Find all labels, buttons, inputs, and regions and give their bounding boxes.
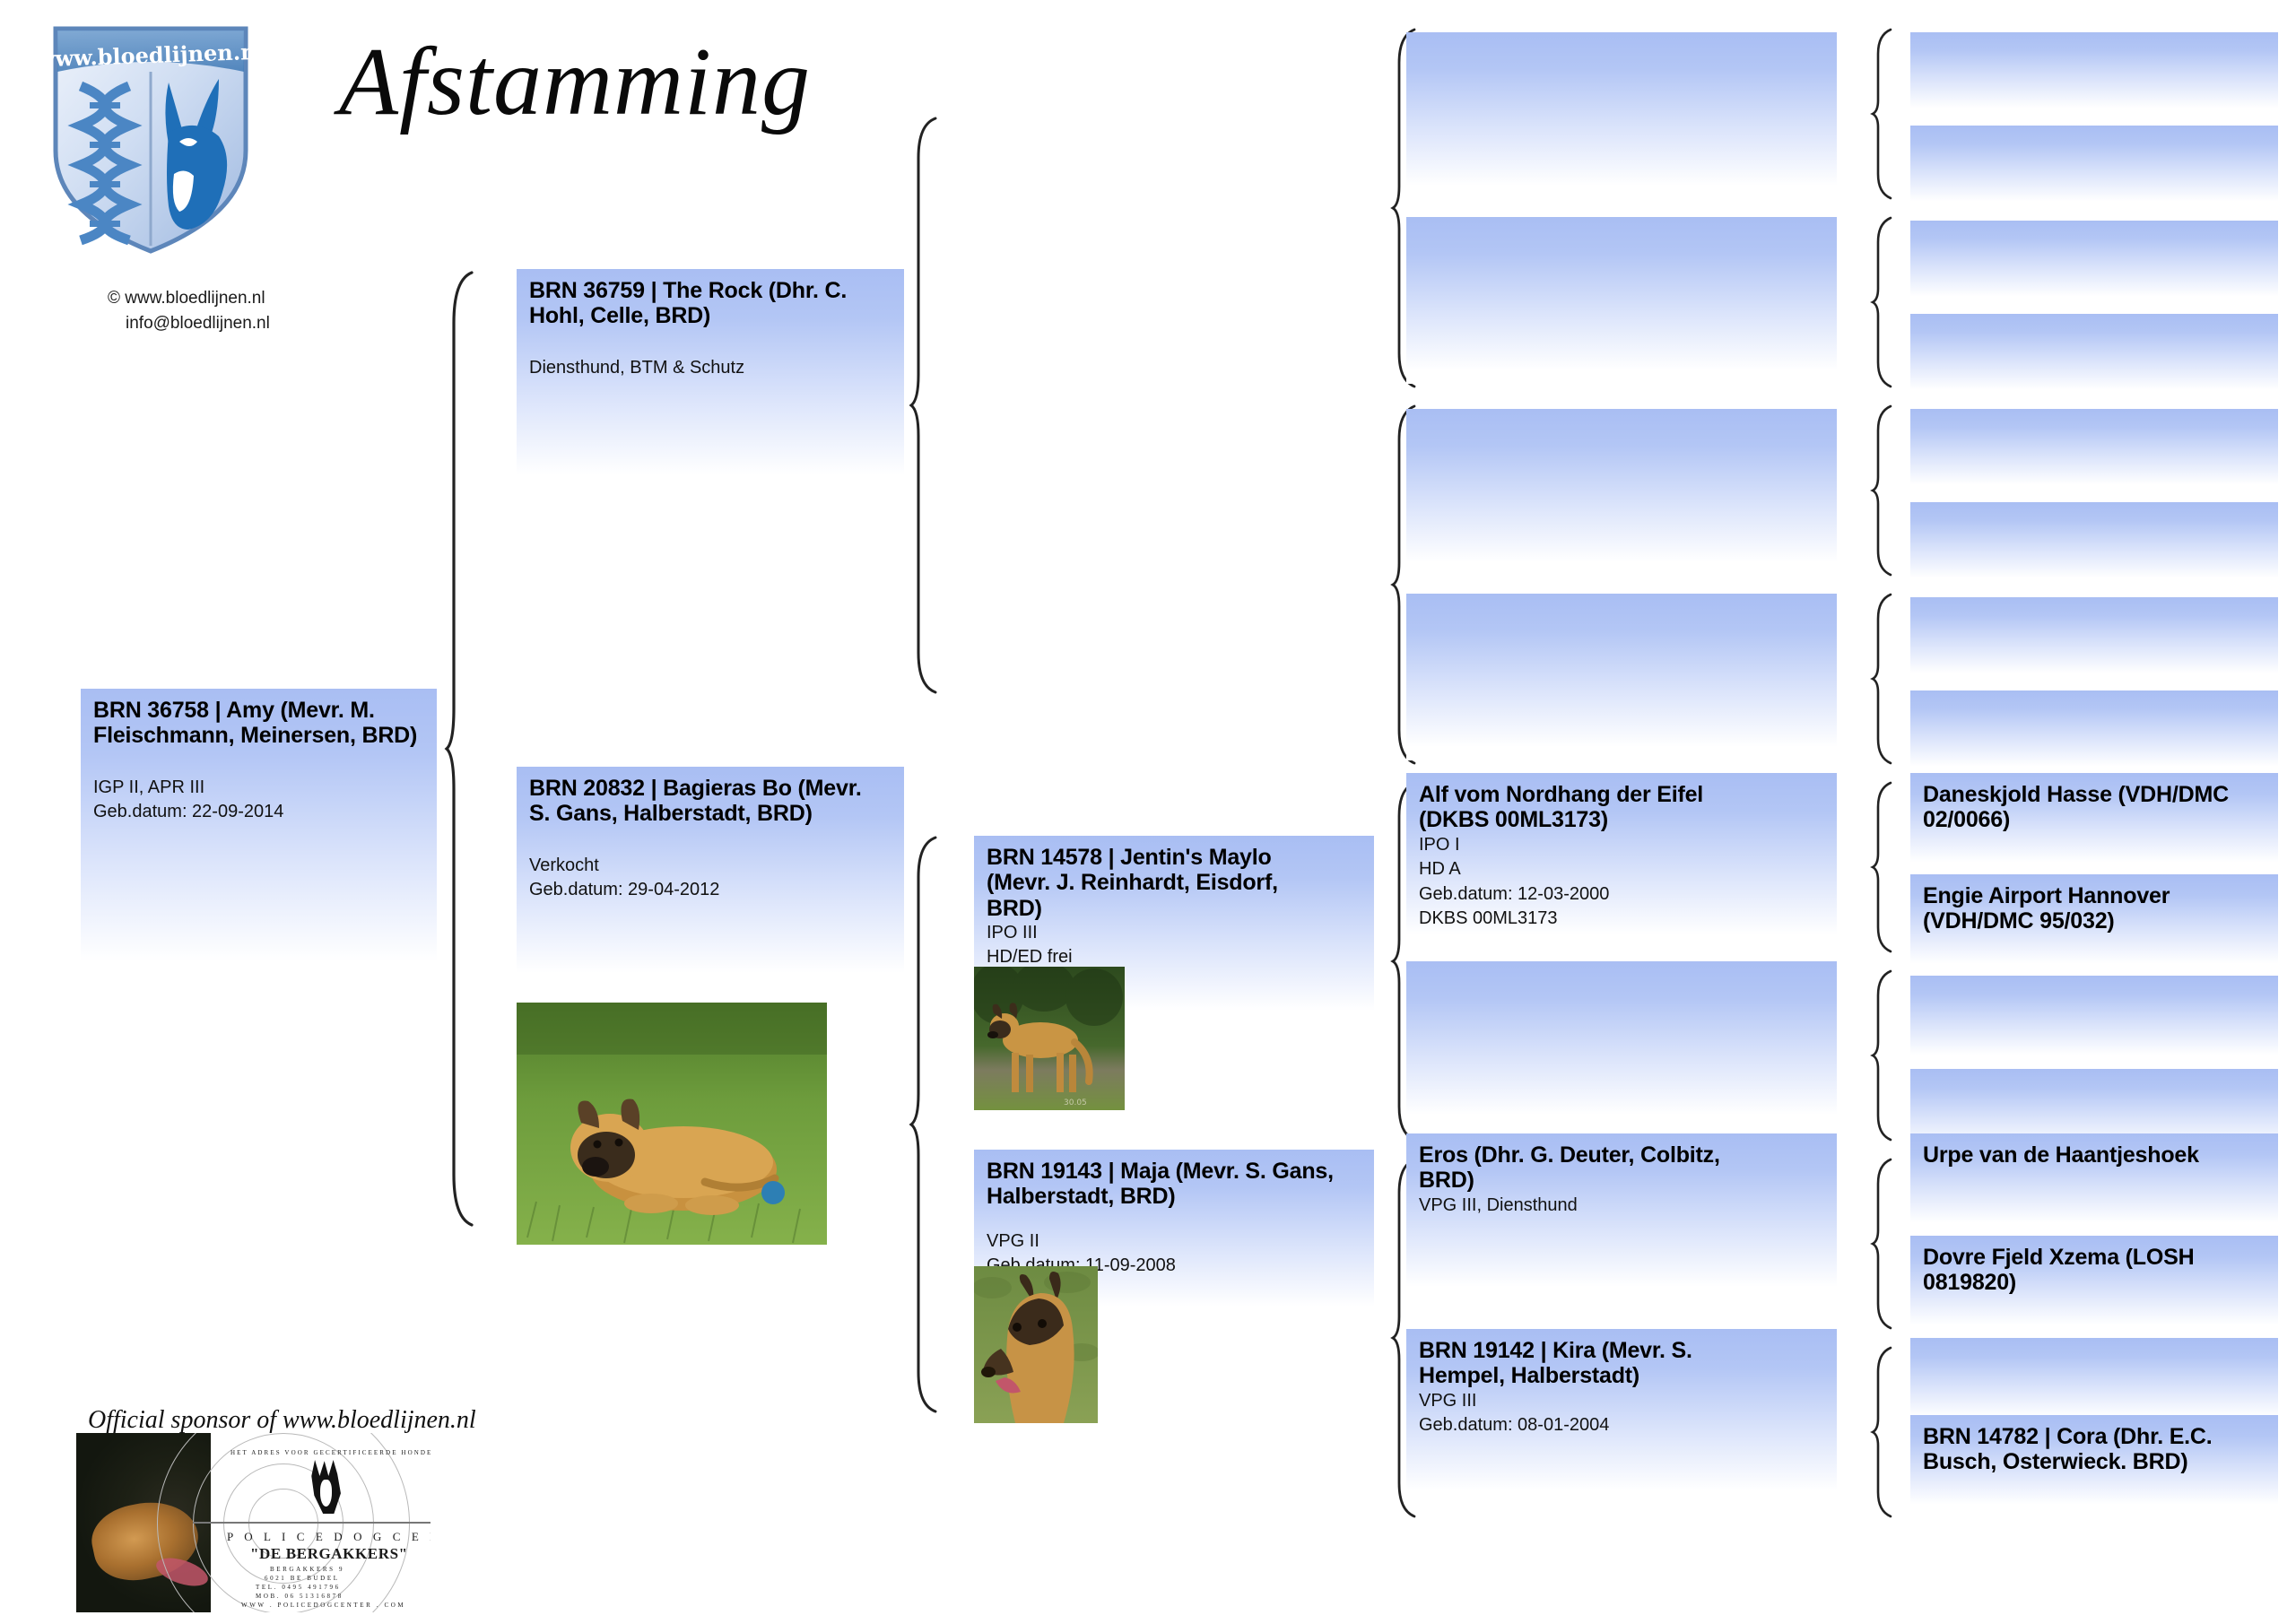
photo-maja	[974, 1266, 1098, 1423]
brace-gen4-8	[1871, 1345, 1894, 1519]
dog-name: BRN 14782 | Cora (Dhr. E.C. Busch, Oster…	[1923, 1424, 2266, 1475]
pedigree-card-empty-g5-1[interactable]	[1910, 32, 2278, 115]
page-title: Afstamming	[339, 27, 811, 138]
dog-name: Daneskjold Hasse (VDH/DMC 02/0066)	[1923, 782, 2266, 833]
sponsor-logo: HET ADRES VOOR GECERTIFICEERDE HONDEN P …	[76, 1433, 430, 1612]
dog-name: BRN 20832 | Bagieras Bo (Mevr. S. Gans, …	[529, 776, 891, 827]
sponsor-name-line1: P O L I C E D O G C E N T E R	[227, 1530, 430, 1544]
dog-details: IGP II, APR III Geb.datum: 22-09-2014	[93, 776, 424, 825]
pedigree-card-empty-g4-4[interactable]	[1406, 594, 1837, 760]
pedigree-card-empty-g4-3[interactable]	[1406, 409, 1837, 576]
pedigree-card-amy[interactable]: BRN 36758 | Amy (Mevr. M. Fleischmann, M…	[81, 689, 437, 985]
dog-name: BRN 19143 | Maja (Mevr. S. Gans, Halbers…	[987, 1159, 1361, 1210]
pedigree-card-cora[interactable]: BRN 14782 | Cora (Dhr. E.C. Busch, Oster…	[1910, 1415, 2278, 1512]
dog-details: IPO III HD/ED frei	[987, 921, 1361, 970]
pedigree-card-empty-g5-11[interactable]	[1910, 976, 2278, 1062]
dog-name: BRN 36758 | Amy (Mevr. M. Fleischmann, M…	[93, 698, 424, 749]
brace-gen4-7	[1871, 1157, 1894, 1331]
pedigree-card-bagieras-bo[interactable]: BRN 20832 | Bagieras Bo (Mevr. S. Gans, …	[517, 767, 904, 991]
pedigree-card-kira[interactable]: BRN 19142 | Kira (Mevr. S. Hempel, Halbe…	[1406, 1329, 1837, 1505]
contact-email: info@bloedlijnen.nl	[126, 314, 270, 334]
pedigree-chart: www.bloedlijnen.nl Afstamming © www.blo	[0, 0, 2296, 1624]
dog-name: Alf vom Nordhang der Eifel (DKBS 00ML317…	[1419, 782, 1824, 833]
pedigree-card-alf-vom-nordhang[interactable]: Alf vom Nordhang der Eifel (DKBS 00ML317…	[1406, 773, 1837, 949]
pedigree-card-dovre-fjeld-xzema[interactable]: Dovre Fjeld Xzema (LOSH 0819820)	[1910, 1236, 2278, 1333]
brace-gen2-bottom	[909, 834, 940, 1415]
photo-bagieras-bo	[517, 1003, 827, 1245]
pedigree-card-daneskjold-hasse[interactable]: Daneskjold Hasse (VDH/DMC 02/0066)	[1910, 773, 2278, 870]
brace-gen4-3	[1871, 404, 1894, 578]
dog-details: Diensthund, BTM & Schutz	[529, 356, 891, 381]
dog-name: Engie Airport Hannover (VDH/DMC 95/032)	[1923, 883, 2266, 934]
sponsor-name-line2: "DE BERGAKKERS"	[250, 1545, 408, 1563]
pedigree-card-urpe-van-de-haantjeshoek[interactable]: Urpe van de Haantjeshoek	[1910, 1133, 2278, 1230]
dog-details: Verkocht Geb.datum: 29-04-2012	[529, 854, 891, 903]
pedigree-card-engie-airport-hannover[interactable]: Engie Airport Hannover (VDH/DMC 95/032)	[1910, 874, 2278, 971]
photo-jentins-maylo: 30.05	[974, 967, 1125, 1110]
dog-details: VPG III Geb.datum: 08-01-2004	[1419, 1389, 1824, 1438]
brace-gen4-6	[1871, 968, 1894, 1142]
dog-details: IPO I HD A Geb.datum: 12-03-2000 DKBS 00…	[1419, 833, 1824, 932]
brace-gen4-4	[1871, 592, 1894, 766]
brace-gen4-2	[1871, 215, 1894, 389]
svg-text:30.05: 30.05	[1064, 1099, 1087, 1107]
bloedlijnen-shield-icon: www.bloedlijnen.nl	[43, 16, 258, 258]
sponsor-address-2: 6021 BE BUDEL	[265, 1575, 340, 1582]
pedigree-card-empty-g5-15[interactable]	[1910, 1338, 2278, 1424]
dog-name: Urpe van de Haantjeshoek	[1923, 1142, 2266, 1168]
pedigree-card-empty-g5-7[interactable]	[1910, 597, 2278, 680]
pedigree-card-empty-g3-1[interactable]	[1406, 32, 1837, 199]
pedigree-card-empty-g5-8[interactable]	[1910, 690, 2278, 773]
sponsor-logo-panel: HET ADRES VOOR GECERTIFICEERDE HONDEN P …	[211, 1433, 430, 1612]
brace-gen1	[445, 269, 477, 1229]
brace-gen2-top	[909, 115, 940, 696]
pedigree-card-empty-g3-2[interactable]	[1406, 217, 1837, 384]
pedigree-card-empty-g4-6[interactable]	[1406, 961, 1837, 1128]
pedigree-card-empty-g5-4[interactable]	[1910, 314, 2278, 396]
dog-name: BRN 14578 | Jentin's Maylo (Mevr. J. Rei…	[987, 845, 1361, 921]
pedigree-card-empty-g5-5[interactable]	[1910, 409, 2278, 491]
dog-details: VPG III, Diensthund	[1419, 1194, 1824, 1219]
brace-gen4-5	[1871, 780, 1894, 954]
sponsor-address-5: WWW . POLICEDOGCENTER . COM	[241, 1602, 405, 1609]
brace-gen4-1	[1871, 27, 1894, 201]
pedigree-card-empty-g5-2[interactable]	[1910, 126, 2278, 208]
sponsor-tagline: HET ADRES VOOR GECERTIFICEERDE HONDEN	[230, 1449, 430, 1456]
copyright-text: © www.bloedlijnen.nl	[108, 289, 265, 308]
dog-name: Dovre Fjeld Xzema (LOSH 0819820)	[1923, 1245, 2266, 1296]
sponsor-caption: Official sponsor of www.bloedlijnen.nl	[88, 1406, 476, 1435]
dog-name: Eros (Dhr. G. Deuter, Colbitz, BRD)	[1419, 1142, 1824, 1194]
pedigree-card-empty-g5-6[interactable]	[1910, 502, 2278, 585]
pedigree-card-the-rock[interactable]: BRN 36759 | The Rock (Dhr. C. Hohl, Cell…	[517, 269, 904, 493]
pedigree-card-eros[interactable]: Eros (Dhr. G. Deuter, Colbitz, BRD) VPG …	[1406, 1133, 1837, 1300]
dog-name: BRN 19142 | Kira (Mevr. S. Hempel, Halbe…	[1419, 1338, 1824, 1389]
sponsor-address-4: MOB. 06 51316878	[256, 1593, 344, 1600]
sponsor-address-3: TEL. 0495 491796	[256, 1584, 341, 1591]
dog-name: BRN 36759 | The Rock (Dhr. C. Hohl, Cell…	[529, 278, 891, 329]
sponsor-address-1: BERGAKKERS 9	[270, 1566, 344, 1573]
pedigree-card-empty-g5-3[interactable]	[1910, 221, 2278, 303]
